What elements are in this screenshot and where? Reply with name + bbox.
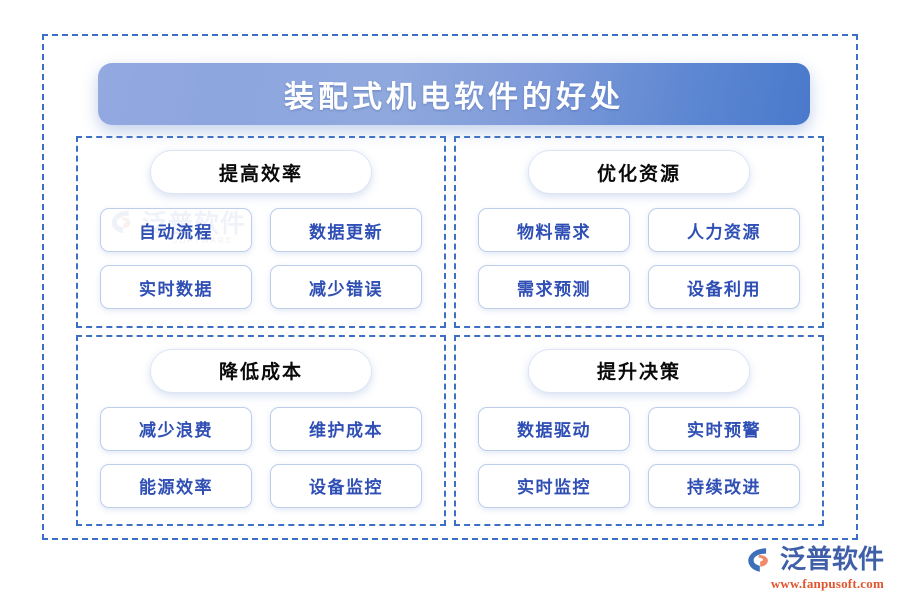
section-improve-decision[interactable]: 提升决策 数据驱动 实时预警 实时监控 持续改进 (454, 335, 824, 527)
item-box[interactable]: 维护成本 (270, 407, 422, 451)
item-label: 数据更新 (309, 218, 383, 243)
section-grid: 泛普软件 SOFTWARE 提高效率 自动流程 数据更新 实时数据 减少错误 (76, 136, 824, 526)
section-title: 降低成本 (219, 357, 303, 384)
item-label: 减少浪费 (139, 416, 213, 441)
brand-name: 泛普软件 (780, 547, 884, 573)
item-box[interactable]: 数据驱动 (478, 407, 630, 451)
item-label: 数据驱动 (517, 416, 591, 441)
item-box[interactable]: 数据更新 (270, 208, 422, 252)
item-box[interactable]: 实时监控 (478, 464, 630, 508)
section-title: 提升决策 (597, 357, 681, 384)
item-label: 实时数据 (139, 275, 213, 300)
diagram-canvas: 装配式机电软件的好处 泛普软件 SOFTWARE 提高效率 自动流程 (0, 0, 900, 600)
section-header-reduce-cost[interactable]: 降低成本 (150, 349, 372, 393)
item-label: 实时监控 (517, 473, 591, 498)
item-box[interactable]: 设备利用 (648, 265, 800, 309)
section-title: 优化资源 (597, 159, 681, 186)
fanpu-swoosh-logo-icon (745, 545, 775, 575)
section-items: 数据驱动 实时预警 实时监控 持续改进 (478, 407, 800, 508)
section-improve-efficiency[interactable]: 泛普软件 SOFTWARE 提高效率 自动流程 数据更新 实时数据 减少错误 (76, 136, 446, 328)
item-box[interactable]: 需求预测 (478, 265, 630, 309)
item-box[interactable]: 自动流程 (100, 208, 252, 252)
item-box[interactable]: 减少错误 (270, 265, 422, 309)
section-header-optimize-resources[interactable]: 优化资源 (528, 150, 750, 194)
item-box[interactable]: 设备监控 (270, 464, 422, 508)
item-label: 实时预警 (687, 416, 761, 441)
item-label: 自动流程 (139, 218, 213, 243)
item-label: 设备利用 (687, 275, 761, 300)
brand-url: www.fanpusoft.com (771, 576, 884, 592)
section-items: 物料需求 人力资源 需求预测 设备利用 (478, 208, 800, 309)
item-label: 持续改进 (687, 473, 761, 498)
item-label: 需求预测 (517, 275, 591, 300)
item-box[interactable]: 减少浪费 (100, 407, 252, 451)
item-label: 维护成本 (309, 416, 383, 441)
section-items: 减少浪费 维护成本 能源效率 设备监控 (100, 407, 422, 508)
item-box[interactable]: 能源效率 (100, 464, 252, 508)
section-header-improve-decision[interactable]: 提升决策 (528, 349, 750, 393)
item-label: 减少错误 (309, 275, 383, 300)
item-label: 能源效率 (139, 473, 213, 498)
section-items: 自动流程 数据更新 实时数据 减少错误 (100, 208, 422, 309)
item-box[interactable]: 物料需求 (478, 208, 630, 252)
section-title: 提高效率 (219, 159, 303, 186)
title-banner: 装配式机电软件的好处 (98, 63, 810, 125)
section-reduce-cost[interactable]: 降低成本 减少浪费 维护成本 能源效率 设备监控 (76, 335, 446, 527)
item-label: 人力资源 (687, 218, 761, 243)
brand-logo[interactable]: 泛普软件 www.fanpusoft.com (745, 545, 884, 592)
section-optimize-resources[interactable]: 优化资源 物料需求 人力资源 需求预测 设备利用 (454, 136, 824, 328)
item-box[interactable]: 持续改进 (648, 464, 800, 508)
item-box[interactable]: 实时数据 (100, 265, 252, 309)
item-box[interactable]: 实时预警 (648, 407, 800, 451)
page-title: 装配式机电软件的好处 (284, 72, 624, 116)
item-label: 物料需求 (517, 218, 591, 243)
section-header-improve-efficiency[interactable]: 提高效率 (150, 150, 372, 194)
item-label: 设备监控 (309, 473, 383, 498)
item-box[interactable]: 人力资源 (648, 208, 800, 252)
